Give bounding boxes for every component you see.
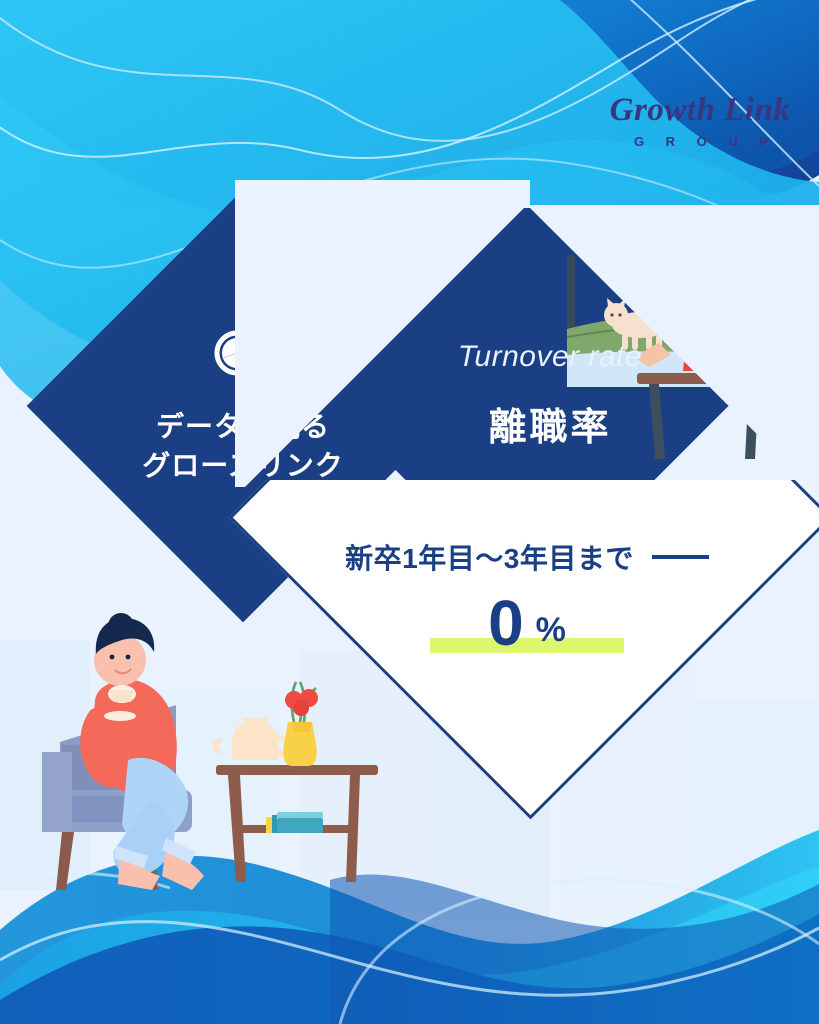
- right-diamond-panel: [235, 205, 819, 487]
- stat-dash-line: [652, 555, 709, 559]
- poster-canvas: データで見る グロースリンク: [0, 0, 819, 1024]
- logo-subtitle: G R O U P: [596, 134, 806, 149]
- logo-wordmark-text: Growth Link: [610, 92, 791, 128]
- stat-value: 0: [488, 593, 524, 654]
- stat-heading-row: 新卒1年目〜3年目まで: [345, 537, 709, 577]
- stat-highlight-bar: [430, 638, 624, 653]
- growth-link-wordmark: Growth Link: [596, 88, 806, 132]
- stat-heading: 新卒1年目〜3年目まで: [345, 537, 634, 577]
- brand-logo[interactable]: Growth Link G R O U P: [596, 88, 806, 150]
- stat-value-row: 0 %: [482, 593, 572, 654]
- stat-unit: %: [536, 613, 566, 647]
- stat-content: 新卒1年目〜3年目まで 0 %: [236, 486, 818, 706]
